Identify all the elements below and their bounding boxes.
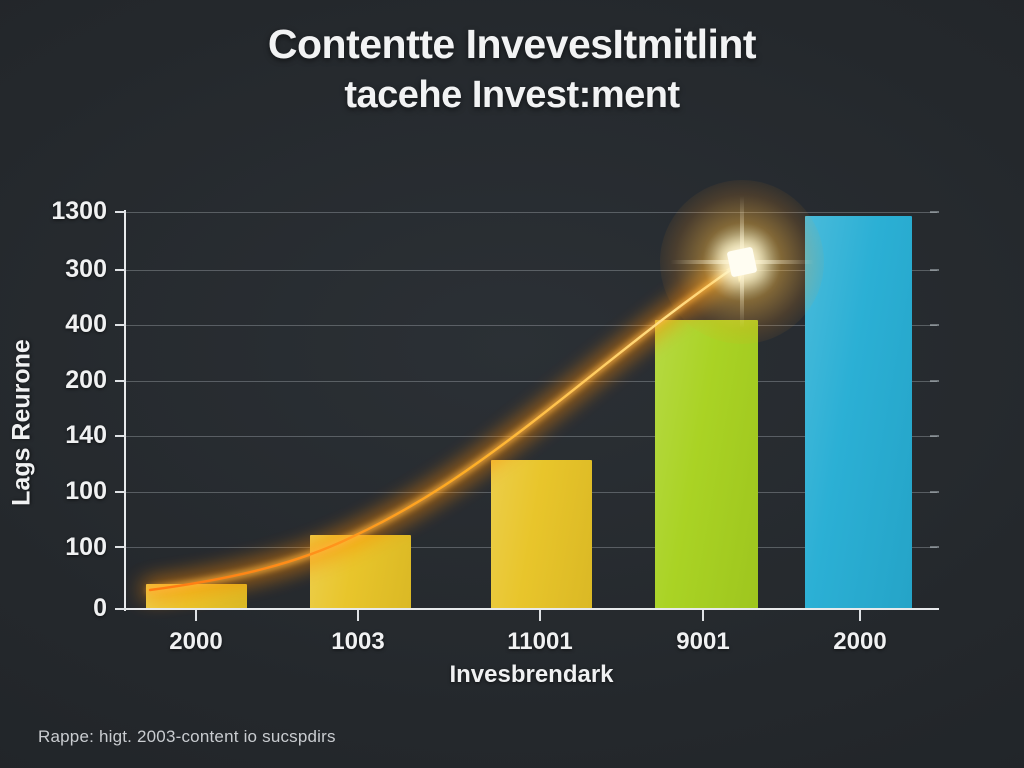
x-axis-line — [124, 608, 939, 610]
spark-core — [727, 247, 758, 278]
y-tick-mark-right — [930, 435, 939, 437]
x-tick-mark — [357, 610, 359, 621]
y-tick-mark — [115, 435, 126, 437]
bar-sheen — [655, 320, 758, 609]
y-tick-mark-right — [930, 491, 939, 493]
bar-2[interactable] — [491, 460, 592, 609]
x-tick-label-4: 2000 — [770, 628, 950, 656]
chart-canvas: Contentte InvevesItmitlint tacehe Invest… — [0, 0, 1024, 768]
y-tick-mark — [115, 608, 126, 610]
chart-title-line-2: tacehe Invest:ment — [0, 70, 1024, 120]
y-tick-mark — [115, 324, 126, 326]
y-tick-mark-right — [930, 211, 939, 213]
y-tick-mark-right — [930, 324, 939, 326]
x-tick-mark — [539, 610, 541, 621]
x-tick-mark — [702, 610, 704, 621]
chart-footnote: Rappe: higt. 2003-content io sucspdirs — [38, 727, 336, 747]
bar-3[interactable] — [655, 320, 758, 609]
y-tick-mark — [115, 546, 126, 548]
x-tick-mark — [859, 610, 861, 621]
y-tick-mark-right — [930, 269, 939, 271]
gridline — [126, 212, 937, 213]
x-tick-mark — [195, 610, 197, 621]
x-tick-label-0: 2000 — [106, 628, 286, 656]
y-tick-mark-right — [930, 380, 939, 382]
bar-0[interactable] — [146, 584, 247, 609]
y-tick-mark-right — [930, 546, 939, 548]
y-tick-mark — [115, 269, 126, 271]
y-tick-mark — [115, 211, 126, 213]
bar-sheen — [146, 584, 247, 609]
x-tick-label-3: 9001 — [613, 628, 793, 656]
y-tick-mark — [115, 380, 126, 382]
bar-1[interactable] — [310, 535, 411, 609]
y-tick-mark — [115, 491, 126, 493]
y-tick-label-0: 1300 — [0, 197, 107, 226]
bar-sheen — [491, 460, 592, 609]
x-axis-label: Invesbrendark — [126, 661, 937, 689]
x-tick-label-2: 11001 — [450, 628, 630, 656]
chart-title: Contentte InvevesItmitlint tacehe Invest… — [0, 18, 1024, 120]
x-tick-label-1: 1003 — [268, 628, 448, 656]
bar-sheen — [310, 535, 411, 609]
y-axis-label: Lags Reurone — [8, 243, 37, 603]
chart-title-line-1: Contentte InvevesItmitlint — [0, 18, 1024, 70]
